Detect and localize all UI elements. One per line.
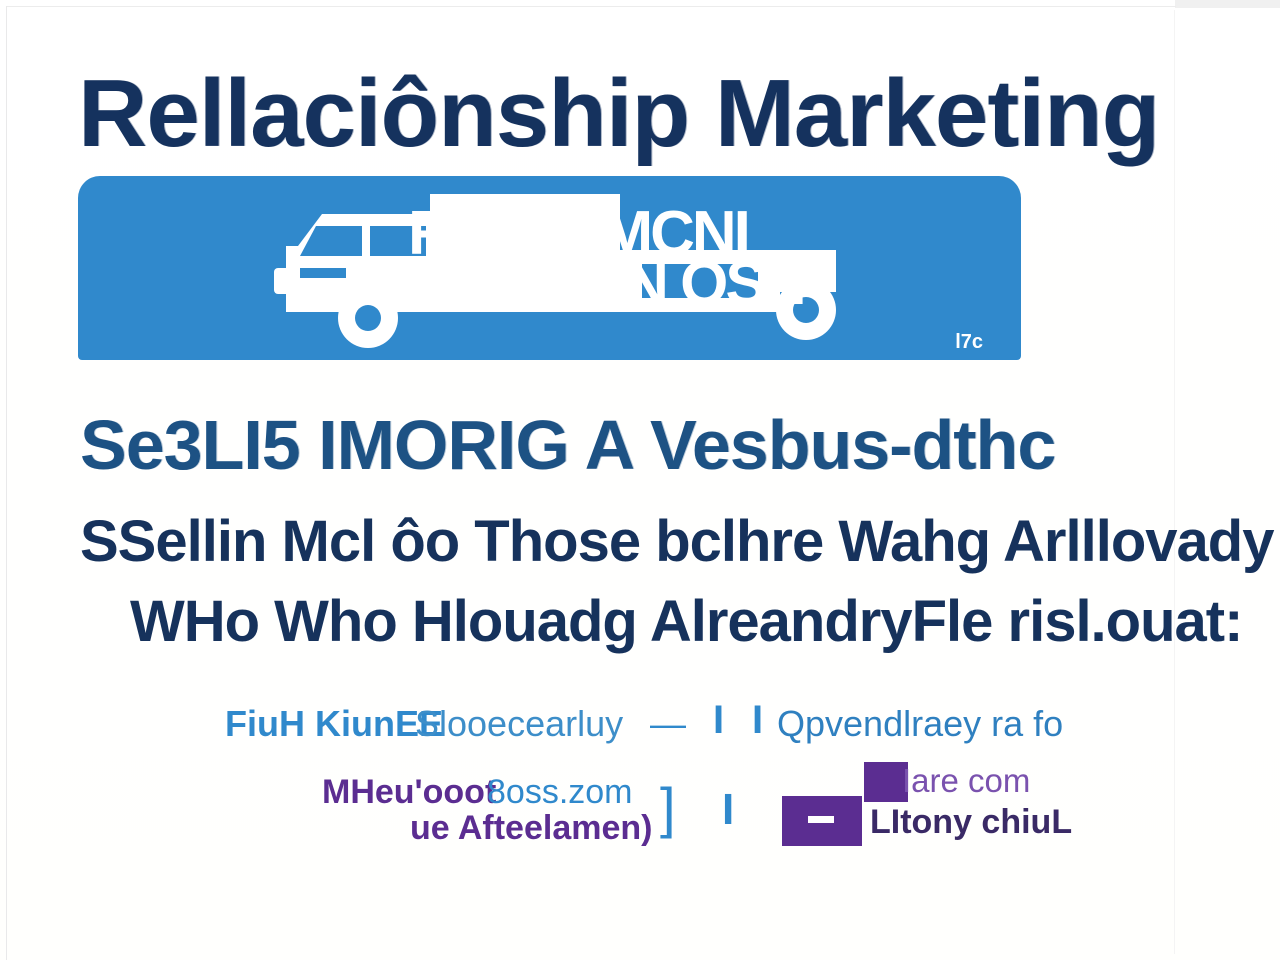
footer-pipe-separator-2: I	[752, 696, 763, 744]
footer-bold-label: FiuH KiunEE	[225, 700, 443, 748]
banner-block: RL'AIT-MCNI DLIORIN OSE l7c	[78, 176, 1021, 360]
page-top-edge-strip	[1175, 0, 1280, 8]
legend-item-label-2: LItony chiuL	[870, 800, 1072, 844]
footer-light-text: Slooecearluy	[415, 700, 623, 748]
footer-bracket-separator: ]	[660, 778, 676, 838]
legend-item-label-1: Iare com	[902, 760, 1030, 802]
footer-row-primary: FiuH KiunEE Slooecearluy — I I Qpvendlra…	[225, 700, 1055, 756]
footer-pipe-separator-1: I	[713, 696, 724, 744]
page-top-border	[6, 6, 1176, 7]
slide-subheading: Se3LI5 IMORIG A Vesbus-dthc	[80, 404, 1200, 490]
body-text-line-2: WHo Who Hlouadg AlreandryFle risl.ouat:	[130, 588, 1190, 656]
footer-row-secondary: MHeu'ooot 8oss.zom ue Afteelamen) ] I Ia…	[322, 770, 1062, 860]
banner-corner-mark: l7c	[955, 331, 983, 354]
body-text-line-1: SSellin Mcl ôo Those bclhre Wahg Arlllov…	[80, 508, 1210, 576]
minus-glyph-icon	[808, 816, 834, 823]
legend-group: Iare com LItony chiuL	[782, 762, 1062, 862]
slide-canvas: Rellaciônship Marketing	[0, 0, 1280, 960]
footer-purple-text-b: ue Afteelamen)	[410, 806, 652, 850]
slide-title: Rellaciônship Marketing	[78, 58, 1198, 174]
banner-text-group: RL'AIT-MCNI DLIORIN OSE	[408, 202, 1008, 332]
footer-dash-separator: —	[650, 700, 686, 748]
banner-text-line2: DLIORIN OSE	[432, 252, 802, 316]
footer-pipe-separator-3: I	[722, 784, 734, 836]
page-left-border	[6, 6, 7, 960]
footer-tail-text: Qpvendlraey ra fo	[777, 700, 1063, 748]
